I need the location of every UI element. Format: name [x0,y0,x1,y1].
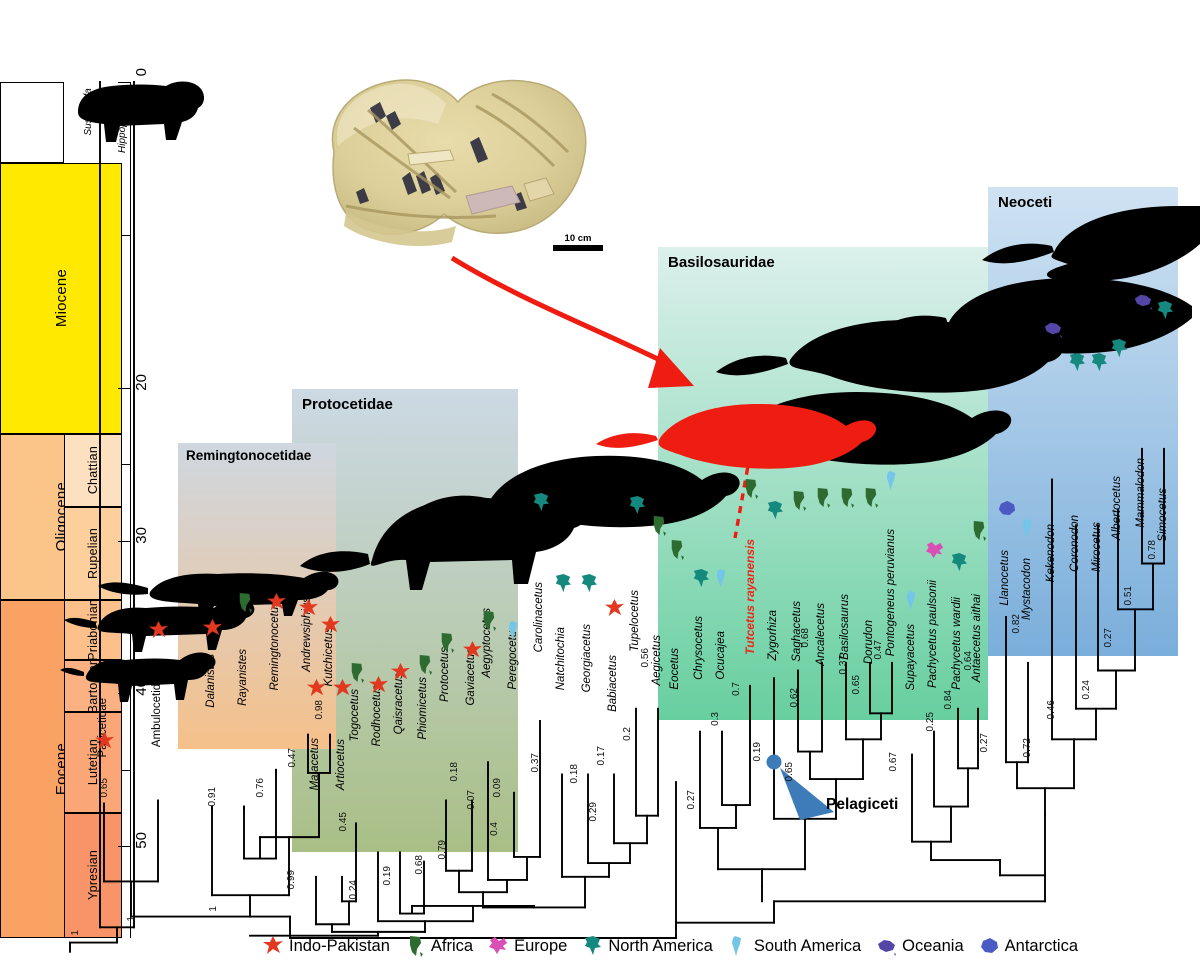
branch-support-value: 0.68 [414,855,425,874]
taxon-label: Ambulocetidae [151,671,163,747]
legend-label: Europe [514,937,567,956]
branch-support-value: 1 [70,930,81,936]
indo-pakistan-map-icon [604,598,625,619]
branch-support-value: 0.7 [731,682,742,696]
taxon-label: Supayacetus [905,624,917,691]
north-america-map-icon [1154,300,1175,321]
indo-pakistan-map-icon [298,598,319,619]
taxon-label: Coronodon [1069,515,1081,572]
branch-support-value: 0.2 [622,727,633,741]
branch-support-value: 0.51 [1123,586,1134,605]
legend-item-antarctica[interactable]: Antarctica [978,935,1078,957]
north-america-map-icon [626,495,647,516]
branch-support-value: 0.46 [1046,700,1057,719]
taxon-label: Pachycetus paulsonii [927,580,939,688]
branch-support-value: 0.64 [963,651,974,670]
africa-map-icon [666,539,687,560]
north-america-map-icon [764,500,785,521]
branch-support-value: 0.91 [207,787,218,806]
figure-canvas: NeocetiBasilosauridaeProtocetidaeRemingt… [0,0,1200,964]
south-america-map-icon [504,620,525,641]
taxon-label: Mammalodon [1135,458,1147,528]
branch-support-value: 0.3 [710,712,721,726]
taxon-label: Mirocetus [1091,522,1103,572]
legend-label: Indo-Pakistan [289,937,390,956]
taxon-label: Eocetus [669,648,681,690]
africa-map-icon [788,490,809,511]
region-legend: Indo-PakistanAfricaEuropeNorth AmericaSo… [262,930,1200,962]
south-america-map-icon [712,568,733,589]
branch-support-value: 0.19 [382,866,393,885]
branch-support-value: 0.82 [1011,614,1022,633]
taxon-label: Phiomicetus [417,677,429,740]
north-america-map-icon [690,568,711,589]
south-america-map-icon [902,590,923,611]
outgroup-label: Hippopotamus [117,88,128,152]
north-america-map-icon [1108,338,1129,359]
africa-map-icon [234,592,255,613]
branch-support-value: 0.84 [943,690,954,709]
indo-pakistan-map-icon [266,592,287,613]
fossil-pointer-arrow [452,258,672,366]
branch-support-value: 0.99 [286,870,297,889]
indo-pakistan-map-icon [148,620,169,641]
branch-support-value: 1 [208,906,219,912]
europe-map-icon [924,540,945,561]
branch-support-value: 0.67 [888,752,899,771]
branch-support-value: 0.29 [588,802,599,821]
taxon-label: Remingtonocetus [269,601,281,691]
fossil-photograph [316,66,598,252]
europe-map-icon [487,935,509,957]
branch-support-value: 0.62 [789,688,800,707]
taxon-label: Natchitochia [555,627,567,690]
scale-bar-label: 10 cm [553,233,603,244]
taxon-label: Pontogeneus peruvianus [885,529,897,656]
africa-map-icon [860,487,881,508]
branch-support-value: 0.24 [1081,680,1092,699]
fossil-pointer-arrowhead [648,348,694,388]
pelagiceti-label: Pelagiceti [826,796,898,814]
photo-scale-bar: 10 cm [553,233,603,251]
taxon-label: Basilosaurus [839,594,851,660]
indo-pakistan-map-icon [390,662,411,683]
scale-bar-line [553,245,603,251]
indo-pakistan-map-icon [202,618,223,639]
taxon-label: Dalanistes [205,654,217,708]
branch-support-value: 0.65 [784,762,795,781]
north-america-map-icon [948,552,969,573]
north-america-map-icon [1088,352,1109,373]
hippopotamus-silhouette [78,82,204,143]
branch-support-value: 0.4 [489,822,500,836]
pelagiceti-node [767,755,782,770]
north-america-map-icon [578,573,599,594]
taxon-label: Tutcetus rayanensis [743,539,757,655]
legend-item-indo-pakistan[interactable]: Indo-Pakistan [262,935,390,957]
indo-pakistan-map-icon [368,675,389,696]
branch-support-value: 0.76 [255,778,266,797]
taxon-label: Babiacetus [607,655,619,712]
indo-pakistan-map-icon [320,615,341,636]
taxon-label: Togocetus [349,689,361,742]
legend-label: Africa [431,937,473,956]
north-america-map-icon [530,492,551,513]
indo-pakistan-map-icon [306,678,327,699]
taxon-label: Ocucajea [715,631,727,680]
branch-support-value: 0.19 [752,742,763,761]
branch-support-value: 0.18 [569,764,580,783]
north-america-map-icon [581,935,603,957]
south-america-map-icon [1018,518,1039,539]
africa-map-icon [414,654,435,675]
indo-pakistan-map-icon [262,935,284,957]
antarctica-map-icon [978,935,1000,957]
branch-support-value: 0.24 [348,880,359,899]
north-america-map-icon [1066,352,1087,373]
africa-map-icon [436,632,457,653]
branch-support-value: 0.18 [449,762,460,781]
taxon-label: Simocetus [1157,488,1169,542]
indo-pakistan-map-icon [462,640,483,661]
legend-item-africa[interactable]: Africa [404,935,473,957]
taxon-label: Kekenodon [1045,524,1057,582]
south-america-map-icon [882,470,903,491]
africa-map-icon [478,610,499,631]
pakicetid-silhouette [60,653,215,702]
legend-item-europe[interactable]: Europe [487,935,567,957]
taxon-label: Georgiacetus [581,624,593,692]
branch-support-value: 0.27 [686,790,697,809]
branch-support-value: 0.65 [851,675,862,694]
africa-map-icon [812,487,833,508]
branch-support-value: 0.27 [1103,628,1114,647]
phylogeny-svg [0,0,1200,964]
legend-item-oceania[interactable]: Oceania [875,935,963,957]
branch-support-value: 0.65 [99,778,110,797]
branch-support-value: 1 [126,916,137,922]
branch-support-value: 0.07 [466,790,477,809]
taxon-label: Pachycetus wardii [951,597,963,690]
africa-map-icon [346,662,367,683]
taxon-label: Rayanistes [237,649,249,706]
taxon-label: Artiocetus [335,739,347,790]
africa-map-icon [968,520,989,541]
africa-map-icon [740,478,761,499]
taxon-label: Carolinacetus [533,582,545,652]
indo-pakistan-map-icon [94,731,115,752]
north-america-map-icon [552,573,573,594]
legend-label: Antarctica [1005,937,1078,956]
legend-item-south-america[interactable]: South America [727,935,861,957]
taxon-label: Albertocetus [1111,476,1123,540]
branch-support-value: 0.78 [1147,540,1158,559]
branch-support-value: 0.98 [314,700,325,719]
branch-support-value: 0.17 [596,746,607,765]
taxon-label: Tupelocetus [629,590,641,652]
taxon-label: Mystacodon [1021,558,1033,620]
branch-support-value: 0.72 [1022,738,1033,757]
taxon-label: Protocetus [439,647,451,702]
south-america-map-icon [727,935,749,957]
taxon-label: Aegicetus [651,635,663,686]
branch-support-value: 0.79 [437,840,448,859]
branch-support-value: 0.37 [530,753,541,772]
outgroup-label: Sus scrofa [83,88,94,135]
branch-support-value: 0.45 [338,812,349,831]
taxon-label: Ancalecetus [815,603,827,666]
branch-support-value: 0.47 [287,748,298,767]
branch-support-value: 0.25 [925,712,936,731]
branch-support-value: 0.09 [492,778,503,797]
branch-support-value: 0.56 [640,648,651,667]
oceania-map-icon [875,935,897,957]
oceania-map-icon [1042,318,1063,339]
taxon-label: Chrysocetus [693,616,705,680]
branch-support-value: 0.68 [800,628,811,647]
africa-map-icon [648,515,669,536]
legend-label: North America [608,937,713,956]
africa-map-icon [404,935,426,957]
taxon-label: Llanocetus [999,550,1011,606]
legend-item-north-america[interactable]: North America [581,935,713,957]
branch-support-value: 0.37 [838,655,849,674]
neoceti-silhouette-2 [982,206,1200,282]
taxon-label: Maiacetus [309,738,321,790]
antarctica-map-icon [996,498,1017,519]
legend-label: South America [754,937,861,956]
branch-support-value: 0.47 [873,640,884,659]
africa-map-icon [836,487,857,508]
legend-label: Oceania [902,937,963,956]
branch-support-value: 0.27 [979,733,990,752]
oceania-map-icon [1132,290,1153,311]
taxon-label: Zygorhiza [767,610,779,661]
